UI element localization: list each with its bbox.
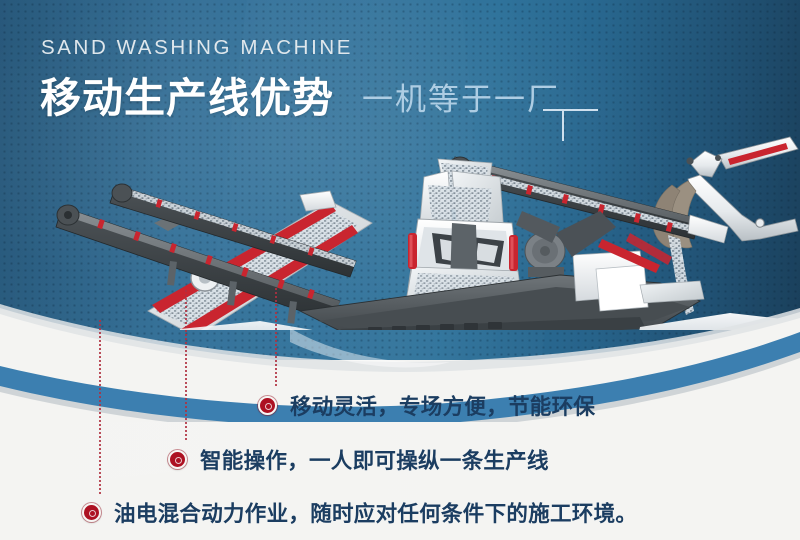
banner-root: SAND WASHING MACHINE 移动生产线优势 一机等于一厂 bbox=[0, 0, 800, 540]
list-item: 智能操作，一人即可操纵一条生产线 bbox=[168, 444, 549, 475]
leader-line-3 bbox=[99, 320, 101, 494]
bullet-text-3: 油电混合动力作业，随时应对任何条件下的施工环境。 bbox=[114, 497, 637, 528]
list-item: 移动灵活，专场方便，节能环保 bbox=[258, 390, 595, 421]
bullet-marker-icon bbox=[258, 396, 277, 415]
list-item: 油电混合动力作业，随时应对任何条件下的施工环境。 bbox=[82, 497, 637, 528]
leader-line-1 bbox=[275, 288, 277, 386]
bullet-text-2: 智能操作，一人即可操纵一条生产线 bbox=[200, 444, 549, 475]
bullet-text-1: 移动灵活，专场方便，节能环保 bbox=[290, 390, 595, 421]
kicker-text: SAND WASHING MACHINE bbox=[41, 36, 353, 60]
benefits-list: 移动灵活，专场方便，节能环保 智能操作，一人即可操纵一条生产线 油电混合动力作业… bbox=[0, 360, 800, 540]
bullet-marker-icon bbox=[82, 503, 101, 522]
leader-line-2 bbox=[185, 290, 187, 440]
bullet-marker-icon bbox=[168, 450, 187, 469]
